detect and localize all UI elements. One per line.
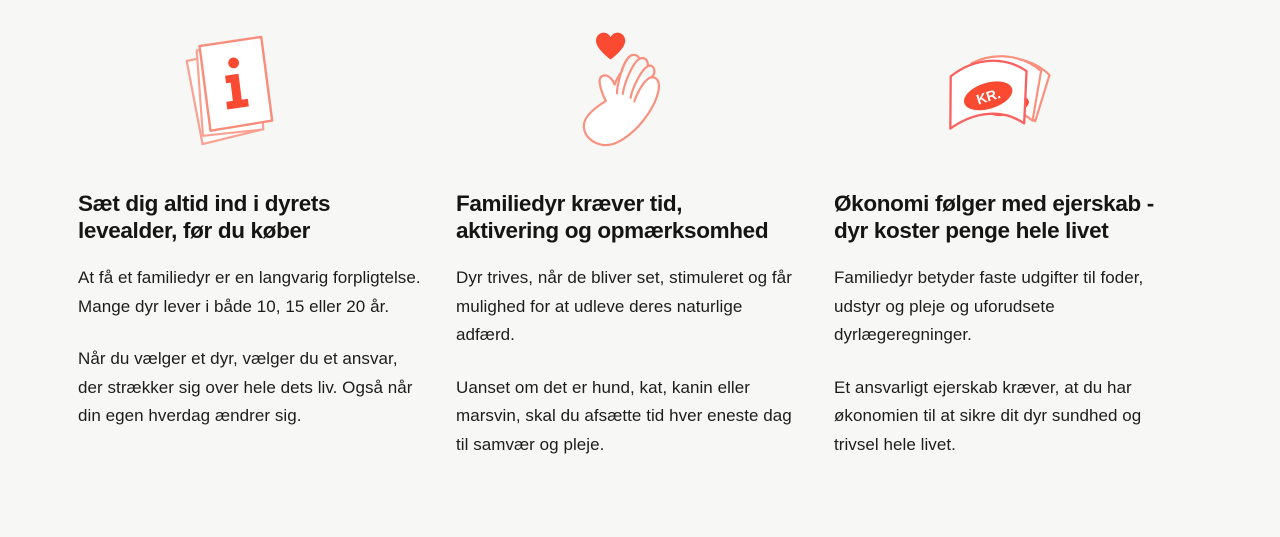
card-paragraph: Når du vælger et dyr, vælger du et ansva… bbox=[78, 345, 426, 431]
card-title: Sæt dig altid ind i dyrets levealder, fø… bbox=[78, 190, 330, 244]
card-info-papers: Sæt dig altid ind i dyrets levealder, fø… bbox=[78, 0, 426, 431]
card-icon-container: KR. bbox=[834, 0, 1182, 190]
card-title: Økonomi følger med ejerskab - dyr koster… bbox=[834, 190, 1154, 244]
card-paragraph: Uanset om det er hund, kat, kanin eller … bbox=[456, 374, 804, 460]
info-cards-section: Sæt dig altid ind i dyrets levealder, fø… bbox=[0, 0, 1280, 537]
heart-shape bbox=[596, 33, 625, 60]
hand-shape bbox=[584, 55, 659, 145]
cards-row: Sæt dig altid ind i dyrets levealder, fø… bbox=[78, 0, 1202, 537]
card-icon-container bbox=[456, 0, 804, 190]
card-paragraph: Dyr trives, når de bliver set, stimulere… bbox=[456, 264, 804, 350]
card-paragraph: At få et familiedyr er en langvarig forp… bbox=[78, 264, 426, 321]
banknotes-icon: KR. bbox=[942, 35, 1062, 147]
card-paragraph: Et ansvarligt ejerskab kræver, at du har… bbox=[834, 374, 1182, 460]
info-papers-icon bbox=[179, 32, 283, 150]
card-title: Familiedyr kræver tid, aktivering og opm… bbox=[456, 190, 768, 244]
card-hand-heart: Familiedyr kræver tid, aktivering og opm… bbox=[456, 0, 804, 459]
hand-heart-icon bbox=[565, 30, 677, 152]
card-icon-container bbox=[78, 0, 426, 190]
card-paragraph: Familiedyr betyder faste udgifter til fo… bbox=[834, 264, 1182, 350]
card-economy-banknotes: KR. Økonomi følger med ejerskab - dyr ko… bbox=[834, 0, 1182, 459]
